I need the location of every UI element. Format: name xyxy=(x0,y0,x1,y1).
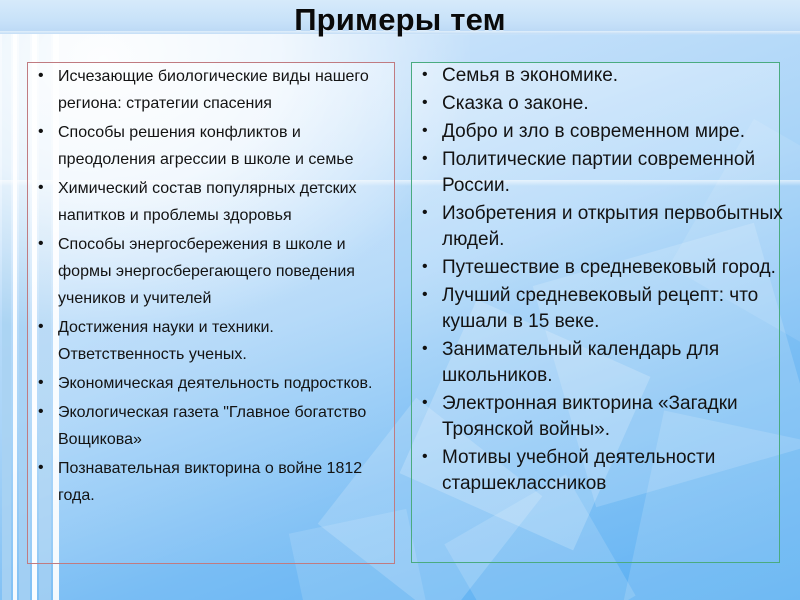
list-item: Мотивы учебной деятельности старшеклассн… xyxy=(412,445,784,497)
list-item: Занимательный календарь для школьников. xyxy=(412,337,784,389)
slide-title: Примеры тем xyxy=(0,2,800,38)
list-item: Достижения науки и техники. Ответственно… xyxy=(28,314,400,368)
list-item: Исчезающие биологические виды нашего рег… xyxy=(28,63,400,117)
list-item: Сказка о законе. xyxy=(412,91,784,117)
list-item: Способы решения конфликтов и преодоления… xyxy=(28,119,400,173)
list-item: Политические партии современной России. xyxy=(412,147,784,199)
list-item: Способы энергосбережения в школе и формы… xyxy=(28,231,400,312)
presentation-slide: Примеры тем Исчезающие биологические вид… xyxy=(0,0,800,600)
list-item: Путешествие в средневековый город. xyxy=(412,255,784,281)
right-topic-list: Семья в экономике.Сказка о законе.Добро … xyxy=(412,63,784,499)
list-item: Экономическая деятельность подростков. xyxy=(28,370,400,397)
list-item: Познавательная викторина о войне 1812 го… xyxy=(28,455,400,509)
list-item: Добро и зло в современном мире. xyxy=(412,119,784,145)
list-item: Лучший средневековый рецепт: что кушали … xyxy=(412,283,784,335)
left-topic-list: Исчезающие биологические виды нашего рег… xyxy=(28,63,400,511)
list-item: Семья в экономике. xyxy=(412,63,784,89)
list-item: Электронная викторина «Загадки Троянской… xyxy=(412,391,784,443)
list-item: Химический состав популярных детских нап… xyxy=(28,175,400,229)
list-item: Изобретения и открытия первобытных людей… xyxy=(412,201,784,253)
list-item: Экологическая газета "Главное богатство … xyxy=(28,399,400,453)
